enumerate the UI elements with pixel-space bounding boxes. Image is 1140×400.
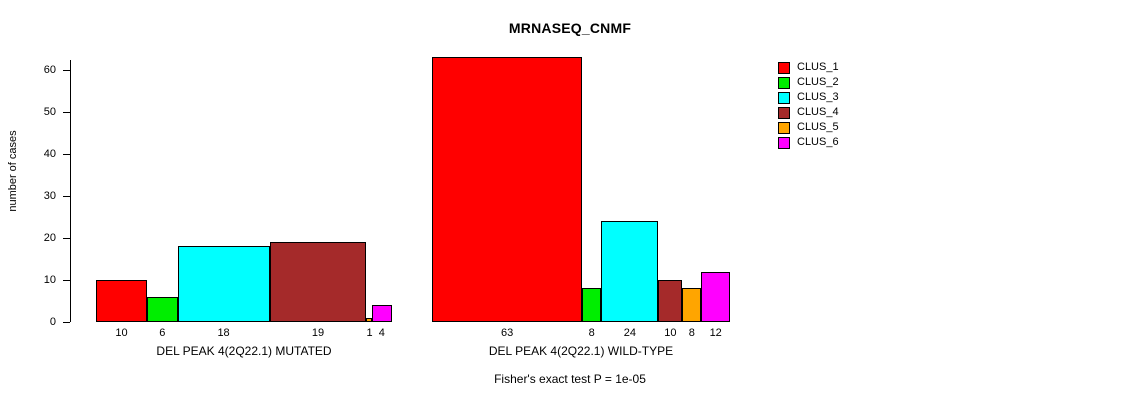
bar-value-label: 6 (147, 328, 178, 339)
legend: CLUS_1CLUS_2CLUS_3CLUS_4CLUS_5CLUS_6 (778, 60, 839, 150)
bar (682, 288, 701, 322)
bar-value-label: 10 (96, 328, 147, 339)
y-axis-tick-label: 30 (34, 191, 56, 202)
bar-value-label: 24 (601, 328, 658, 339)
legend-label: CLUS_5 (797, 122, 839, 133)
x-axis-line (432, 321, 730, 322)
chart-panel (432, 57, 730, 322)
bar-value-label: 18 (178, 328, 270, 339)
bar-value-label: 8 (582, 328, 601, 339)
y-axis-tick-label: 20 (34, 233, 56, 244)
legend-color-swatch (778, 77, 790, 89)
legend-color-swatch (778, 122, 790, 134)
bar (701, 272, 730, 322)
chart-panel (96, 57, 392, 322)
panel-axis-label: DEL PEAK 4(2Q22.1) MUTATED (96, 344, 392, 358)
bar-value-label: 63 (432, 328, 582, 339)
legend-color-swatch (778, 92, 790, 104)
y-axis-tick-label: 0 (34, 317, 56, 328)
legend-item: CLUS_5 (778, 120, 839, 135)
legend-label: CLUS_3 (797, 92, 839, 103)
bar (601, 221, 658, 322)
legend-item: CLUS_2 (778, 75, 839, 90)
x-axis-line (96, 321, 392, 322)
y-axis-tick (63, 70, 70, 71)
legend-item: CLUS_6 (778, 135, 839, 150)
legend-label: CLUS_1 (797, 62, 839, 73)
y-axis-title: number of cases (7, 106, 19, 236)
bar-value-label: 10 (658, 328, 682, 339)
bar-value-label: 4 (372, 328, 392, 339)
bar (432, 57, 582, 322)
legend-label: CLUS_4 (797, 107, 839, 118)
legend-item: CLUS_3 (778, 90, 839, 105)
legend-color-swatch (778, 107, 790, 119)
bar-value-label: 12 (701, 328, 730, 339)
y-axis-tick (63, 280, 70, 281)
bar-value-label: 8 (682, 328, 701, 339)
bar (96, 280, 147, 322)
bar (178, 246, 270, 322)
y-axis-tick-label: 40 (34, 149, 56, 160)
bar-group (432, 57, 730, 322)
chart-title: MRNASEQ_CNMF (0, 20, 1140, 36)
y-axis-tick (63, 154, 70, 155)
bar (270, 242, 367, 322)
bar-value-label: 19 (270, 328, 367, 339)
legend-color-swatch (778, 137, 790, 149)
bar-group (96, 57, 392, 322)
legend-label: CLUS_6 (797, 137, 839, 148)
y-axis-tick-label: 50 (34, 107, 56, 118)
legend-item: CLUS_1 (778, 60, 839, 75)
y-axis-tick (63, 112, 70, 113)
y-axis-tick-label: 60 (34, 65, 56, 76)
panel-axis-label: DEL PEAK 4(2Q22.1) WILD-TYPE (432, 344, 730, 358)
statistical-test-annotation: Fisher's exact test P = 1e-05 (0, 372, 1140, 386)
legend-item: CLUS_4 (778, 105, 839, 120)
legend-label: CLUS_2 (797, 77, 839, 88)
y-axis-line (70, 60, 71, 322)
chart-root: MRNASEQ_CNMF 0102030405060 number of cas… (0, 0, 1140, 400)
bar (658, 280, 682, 322)
y-axis-tick (63, 238, 70, 239)
y-axis-tick (63, 322, 70, 323)
bar (372, 305, 392, 322)
bar (582, 288, 601, 322)
y-axis-tick-label: 10 (34, 275, 56, 286)
legend-color-swatch (778, 62, 790, 74)
bar (147, 297, 178, 322)
y-axis-tick (63, 196, 70, 197)
